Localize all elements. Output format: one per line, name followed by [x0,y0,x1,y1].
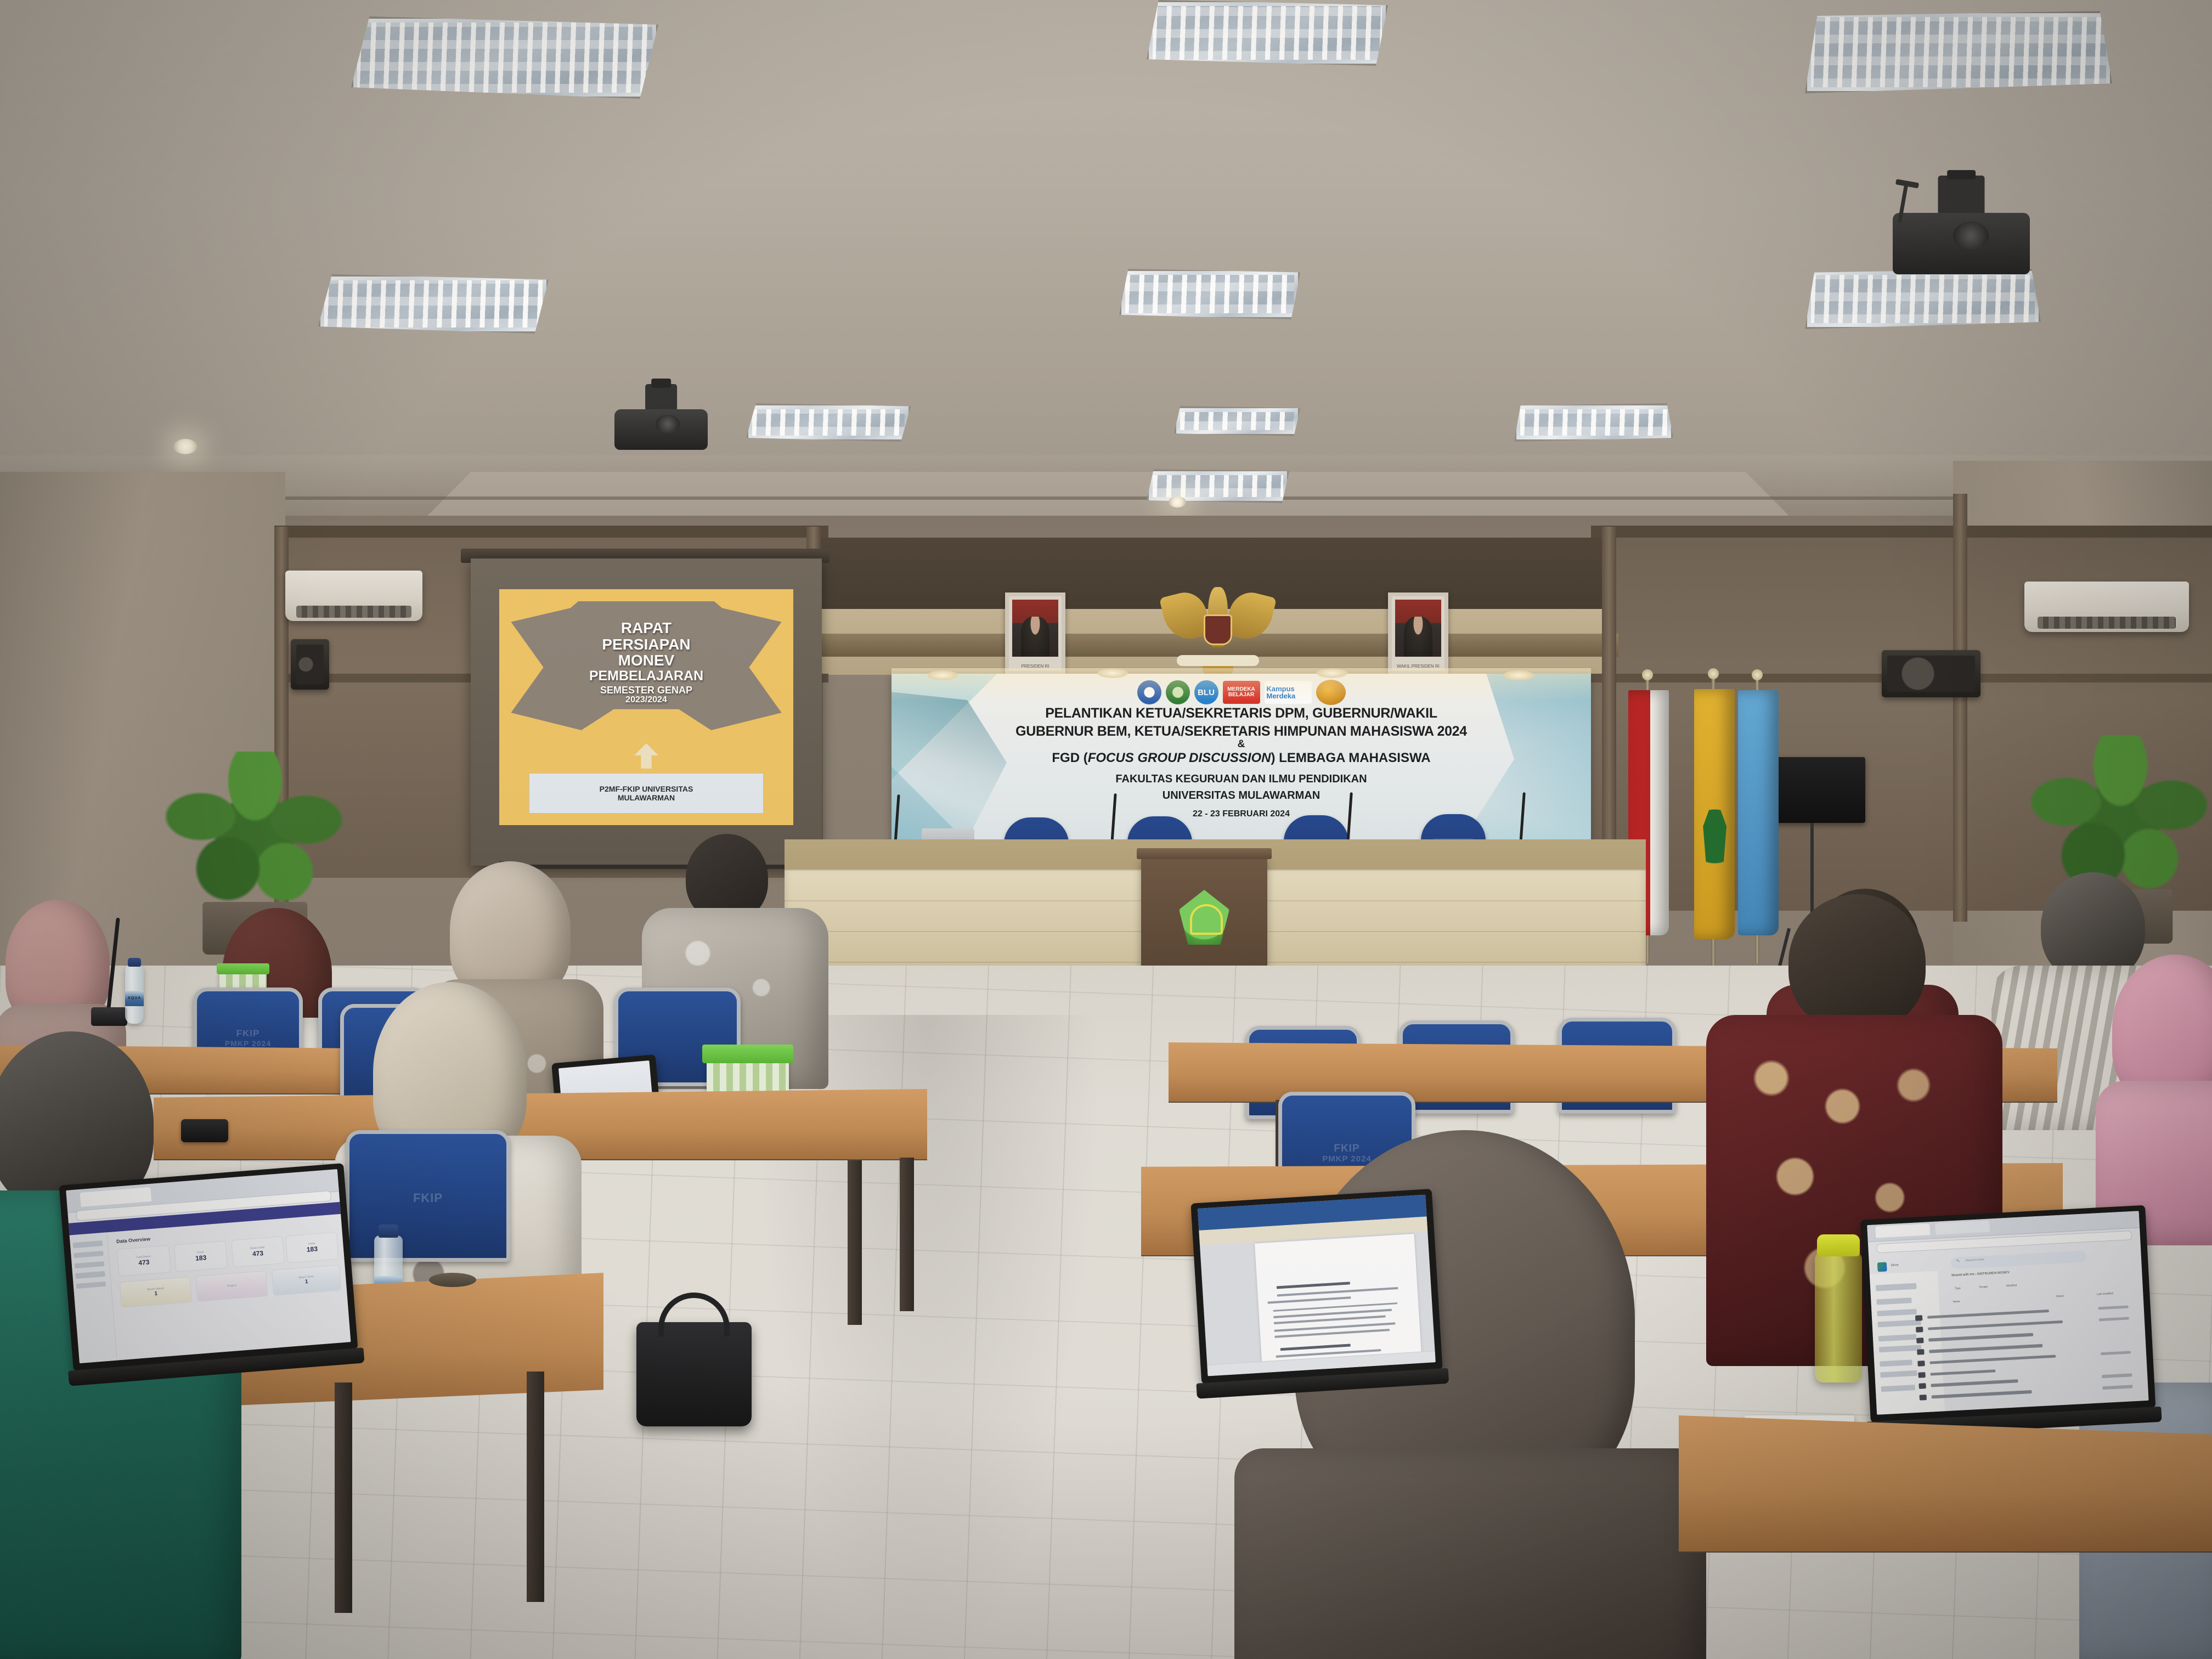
projector-body [1893,213,2030,274]
doc-line [1268,1296,1351,1304]
file-modified-date [2102,1385,2133,1389]
recessed-fluorescent-troffer [318,274,549,334]
stat-card-value: 473 [252,1249,264,1258]
portrait-caption: WAKIL PRESIDEN RI [1392,664,1444,669]
chart-card[interactable]: Progres [195,1271,268,1302]
file-name [1929,1344,2042,1353]
aqua-water-bottle[interactable]: AQUA [125,964,144,1024]
banner-faculty: FAKULTAS KEGURUAN DAN ILMU PENDIDIKAN [891,772,1591,786]
file-name [1931,1380,2018,1387]
recessed-fluorescent-troffer [1805,11,2112,93]
stat-card[interactable]: Total Dosen 473 [117,1245,171,1277]
word-document-page[interactable] [1255,1234,1421,1368]
ceiling-downlight [173,439,198,454]
laptop-document-center[interactable] [1190,1189,1442,1384]
banner-ampersand: & [891,739,1591,751]
stat-card[interactable]: Prodi 183 [174,1240,228,1272]
app-sidebar[interactable] [70,1232,118,1363]
projector-body [614,409,708,450]
wall-trim [1591,526,2212,538]
filter-chip-people[interactable]: People [1979,1285,1988,1289]
split-air-conditioner-right [2024,582,2189,632]
recessed-fluorescent-troffer [1119,269,1300,319]
attendee [2101,955,2212,1185]
stat-card-value: 473 [138,1258,150,1267]
file-name [1928,1320,2063,1330]
file-name [1927,1310,2049,1319]
table-grommet [429,1273,476,1287]
garuda-pancasila-emblem [1163,586,1273,674]
dashboard-section-title: Data Overview [116,1236,151,1244]
banner-title-line1: PELANTIKAN KETUA/SEKRETARIS DPM, GUBERNU… [891,706,1591,721]
chair-label-line1: FKIP [349,1191,506,1205]
laptop-screen[interactable] [1198,1195,1436,1376]
stat-card-value: 183 [195,1254,207,1262]
ceiling-projector [1893,176,2030,274]
stat-card-value: 183 [306,1245,318,1254]
sidebar-item[interactable] [1878,1334,1917,1341]
doc-heading [1280,1344,1350,1351]
banner-title-line3: FGD (FOCUS GROUP DISCUSSION) LEMBAGA MAH… [891,751,1591,766]
recessed-fluorescent-troffer [351,16,658,99]
meeting-room-photo: PRESIDEN RI WAKIL PRESIDEN RI BLU MERDEK… [0,0,2212,1659]
projector-lens-icon [1953,222,1989,250]
file-type-icon [1916,1338,1923,1344]
recessed-fluorescent-troffer [1147,0,1388,66]
drive-logo-icon [1877,1262,1887,1272]
search-input[interactable]: 🔍 Search in Drive [1950,1251,2087,1269]
banner-title-line2: GUBERNUR BEM, KETUA/SEKRETARIS HIMPUNAN … [891,724,1591,740]
filter-chip-modified[interactable]: Modified [2006,1284,2017,1288]
mascot-logo [1316,680,1346,705]
slide-title-block: RAPAT PERSIAPAN MONEV PEMBELAJARAN SEMES… [499,620,793,706]
laptop-dashboard-left[interactable]: Data Overview Total Dosen 473 Prodi 183 … [59,1163,358,1372]
attendee-hijab [450,861,571,998]
handbag[interactable] [636,1322,752,1426]
laptop-drive-right[interactable]: Drive 🔍 Search in Drive Shared with me ›… [1860,1205,2156,1423]
projected-slide: RAPAT PERSIAPAN MONEV PEMBELAJARAN SEMES… [499,589,793,825]
projector-mount [1938,176,1985,217]
recessed-fluorescent-troffer [1147,469,1289,503]
ceiling-downlight [1169,496,1186,507]
banner-logo-row: BLU MERDEKA BELAJAR Kampus Merdeka [891,674,1591,703]
blu-logo: BLU [1194,680,1218,704]
banner-spotlight [1503,670,1534,680]
portrait-photo [1012,600,1058,657]
unmul-logo [1166,680,1190,704]
sidebar-item[interactable] [1880,1370,1917,1378]
file-modified-date [2098,1305,2129,1310]
merdeka-belajar-logo: MERDEKA BELAJAR [1223,681,1260,704]
plant-foliage [165,752,346,914]
portrait-caption: PRESIDEN RI [1009,664,1062,669]
chart-card-value: 1 [154,1290,157,1296]
pancasila-shield [1204,614,1232,645]
file-modified-date [2102,1374,2132,1378]
file-type-icon [1918,1361,1925,1367]
file-type-icon [1915,1315,1922,1321]
garuda-ribbon [1177,655,1259,666]
wall-speaker-right [1882,650,1980,697]
slide-line-2: PERSIAPAN [499,636,793,653]
slide-line-5: SEMESTER GENAP [499,685,793,696]
podium-top [1137,848,1272,859]
chair-label: FKIP [349,1191,506,1205]
slide-footer-line2: MULAWARMAN [600,793,693,802]
chair-back: FKIP [346,1130,510,1262]
slide-line-1: RAPAT [499,620,793,636]
kampus-merdeka-logo: Kampus Merdeka [1265,681,1312,704]
bottle-cap [128,958,141,967]
smartphone[interactable] [181,1119,228,1142]
chart-card[interactable]: Belum Terisi 1 [272,1265,341,1296]
portrait-photo [1395,600,1441,657]
bottle-cap [379,1224,398,1238]
slide-line-3: MONEV [499,652,793,669]
chart-card[interactable]: Monev Masuk 1 [120,1276,192,1307]
projector-mount [645,384,677,411]
file-modified-date [2098,1317,2129,1321]
sidebar-item[interactable] [1881,1385,1915,1392]
file-name [1928,1333,2033,1341]
attendee-head [1788,894,1926,1031]
recessed-fluorescent-troffer [1174,406,1300,436]
projector-lens-icon [656,415,680,433]
sidebar-item[interactable] [76,1282,106,1289]
column-header-modified[interactable]: Last modified [2097,1292,2113,1296]
wall-trim [274,526,828,538]
breadcrumb-item-2[interactable]: INSTRUMEN MONEV [1977,1271,2010,1276]
bottle-label: AQUA [125,991,144,1006]
tumbler-cap [1817,1234,1860,1256]
split-air-conditioner-left [285,571,422,621]
sidebar-item[interactable] [76,1271,105,1279]
recessed-fluorescent-troffer [1514,403,1673,442]
table-leg [527,1372,544,1602]
official-portrait-right: WAKIL PRESIDEN RI [1388,592,1448,675]
ceiling-trim-line [0,496,2212,500]
filter-chip-type[interactable]: Type [1955,1287,1961,1291]
sidebar-item[interactable] [1876,1297,1912,1305]
banner-spotlight [1317,668,1347,678]
file-type-icon [1920,1395,1927,1401]
file-name [1930,1355,2056,1364]
projector-ceiling-plate [1947,170,1976,179]
doc-heading [1277,1282,1350,1289]
laptop-screen[interactable]: Data Overview Total Dosen 473 Prodi 183 … [66,1169,351,1363]
merdeka-logo-bottom: BELAJAR [1228,692,1254,698]
banner-dates: 22 - 23 FEBRUARI 2024 [891,809,1591,819]
banner-fgd-emphasis: FOCUS GROUP DISCUSSION [1088,751,1271,765]
recessed-fluorescent-troffer [1805,269,2041,329]
breadcrumb[interactable]: Shared with me › INSTRUMEN MONEV [1951,1271,2010,1278]
banner-fgd-post: ) LEMBAGA MAHASISWA [1271,751,1431,765]
laptop-screen[interactable]: Drive 🔍 Search in Drive Shared with me ›… [1867,1211,2148,1414]
file-name [1931,1369,1996,1376]
conference-microphone[interactable] [104,933,112,1026]
sidebar-item[interactable] [1880,1359,1912,1367]
sidebar-item[interactable] [1876,1283,1917,1291]
tissue-box-lid [217,963,269,974]
chart-card-label: Progres [227,1284,237,1288]
sidebar-item[interactable] [1877,1308,1916,1316]
wall-speaker-left [291,639,329,690]
laptop-lid [1190,1189,1442,1384]
breadcrumb-item-1[interactable]: Shared with me [1951,1273,1974,1277]
projection-screen: RAPAT PERSIAPAN MONEV PEMBELAJARAN SEMES… [471,558,822,866]
official-portrait-left: PRESIDEN RI [1005,592,1065,675]
file-modified-date [2101,1351,2131,1355]
banner-spotlight [1097,668,1128,678]
projector-cable-arm [1898,185,1908,223]
slide-line-4: PEMBELAJARAN [499,669,793,684]
file-type-icon [1917,1349,1925,1355]
kampus-logo-bottom: Merdeka [1267,692,1296,699]
universitas-mulawarman-seal [1179,890,1229,945]
ceiling-projector [614,384,708,450]
banner-text-block: PELANTIKAN KETUA/SEKRETARIS DPM, GUBERNU… [891,706,1591,819]
banner-university: UNIVERSITAS MULAWARMAN [891,788,1591,803]
file-type-icon [1918,1372,1926,1378]
sidebar-item[interactable] [73,1240,103,1248]
banner-fgd-pre: FGD ( [1052,751,1087,765]
yellow-tumbler[interactable] [1815,1251,1862,1383]
search-placeholder-text: Search in Drive [1966,1258,1984,1262]
wall-column-trim [1953,494,1967,922]
file-name [1932,1390,2032,1398]
column-header-owner[interactable]: Owner [2056,1295,2064,1299]
table-leg [848,1160,862,1325]
table-leg [900,1158,914,1311]
doc-line [1277,1287,1398,1296]
flag-finial [1642,669,1653,680]
flag-finial [1752,669,1763,680]
file-type-icon [1919,1383,1926,1389]
projector-ceiling-plate [651,379,671,388]
stat-card[interactable]: Mata Kuliah 473 [231,1236,285,1268]
sidebar-item[interactable] [1877,1319,1921,1327]
sidebar-item[interactable] [74,1251,104,1259]
laptop-lid: Drive 🔍 Search in Drive Shared with me ›… [1860,1205,2156,1423]
slide-footer-line1: P2MF-FKIP UNIVERSITAS [600,785,693,793]
microphone-base [91,1007,127,1026]
audience-chair[interactable]: FKIP [346,1130,510,1262]
stat-card[interactable]: Kelas 183 [285,1232,339,1263]
audience-table [1679,1415,2212,1553]
search-icon: 🔍 [1956,1259,1960,1262]
sidebar-item[interactable] [1879,1345,1921,1352]
table-leg [335,1383,352,1613]
tissue-box-lid [702,1045,793,1063]
flag-finial [1708,668,1719,679]
chart-card-value: 1 [305,1279,308,1285]
kemdikbud-logo [1137,680,1161,704]
laptop-lid: Data Overview Total Dosen 473 Prodi 183 … [59,1163,358,1372]
drive-wordmark: Drive [1891,1263,1899,1267]
recessed-fluorescent-troffer [746,403,911,442]
attendee-torso [1234,1448,1706,1659]
event-backdrop-banner: BLU MERDEKA BELAJAR Kampus Merdeka PELAN… [891,674,1591,855]
sidebar-item[interactable] [75,1261,104,1269]
file-type-icon [1916,1327,1923,1333]
slide-line-6: 2023/2024 [499,696,793,705]
banner-spotlight [927,670,958,680]
slide-footer-box: P2MF-FKIP UNIVERSITAS MULAWARMAN [529,773,764,813]
column-header-name[interactable]: Name [1953,1300,1960,1304]
